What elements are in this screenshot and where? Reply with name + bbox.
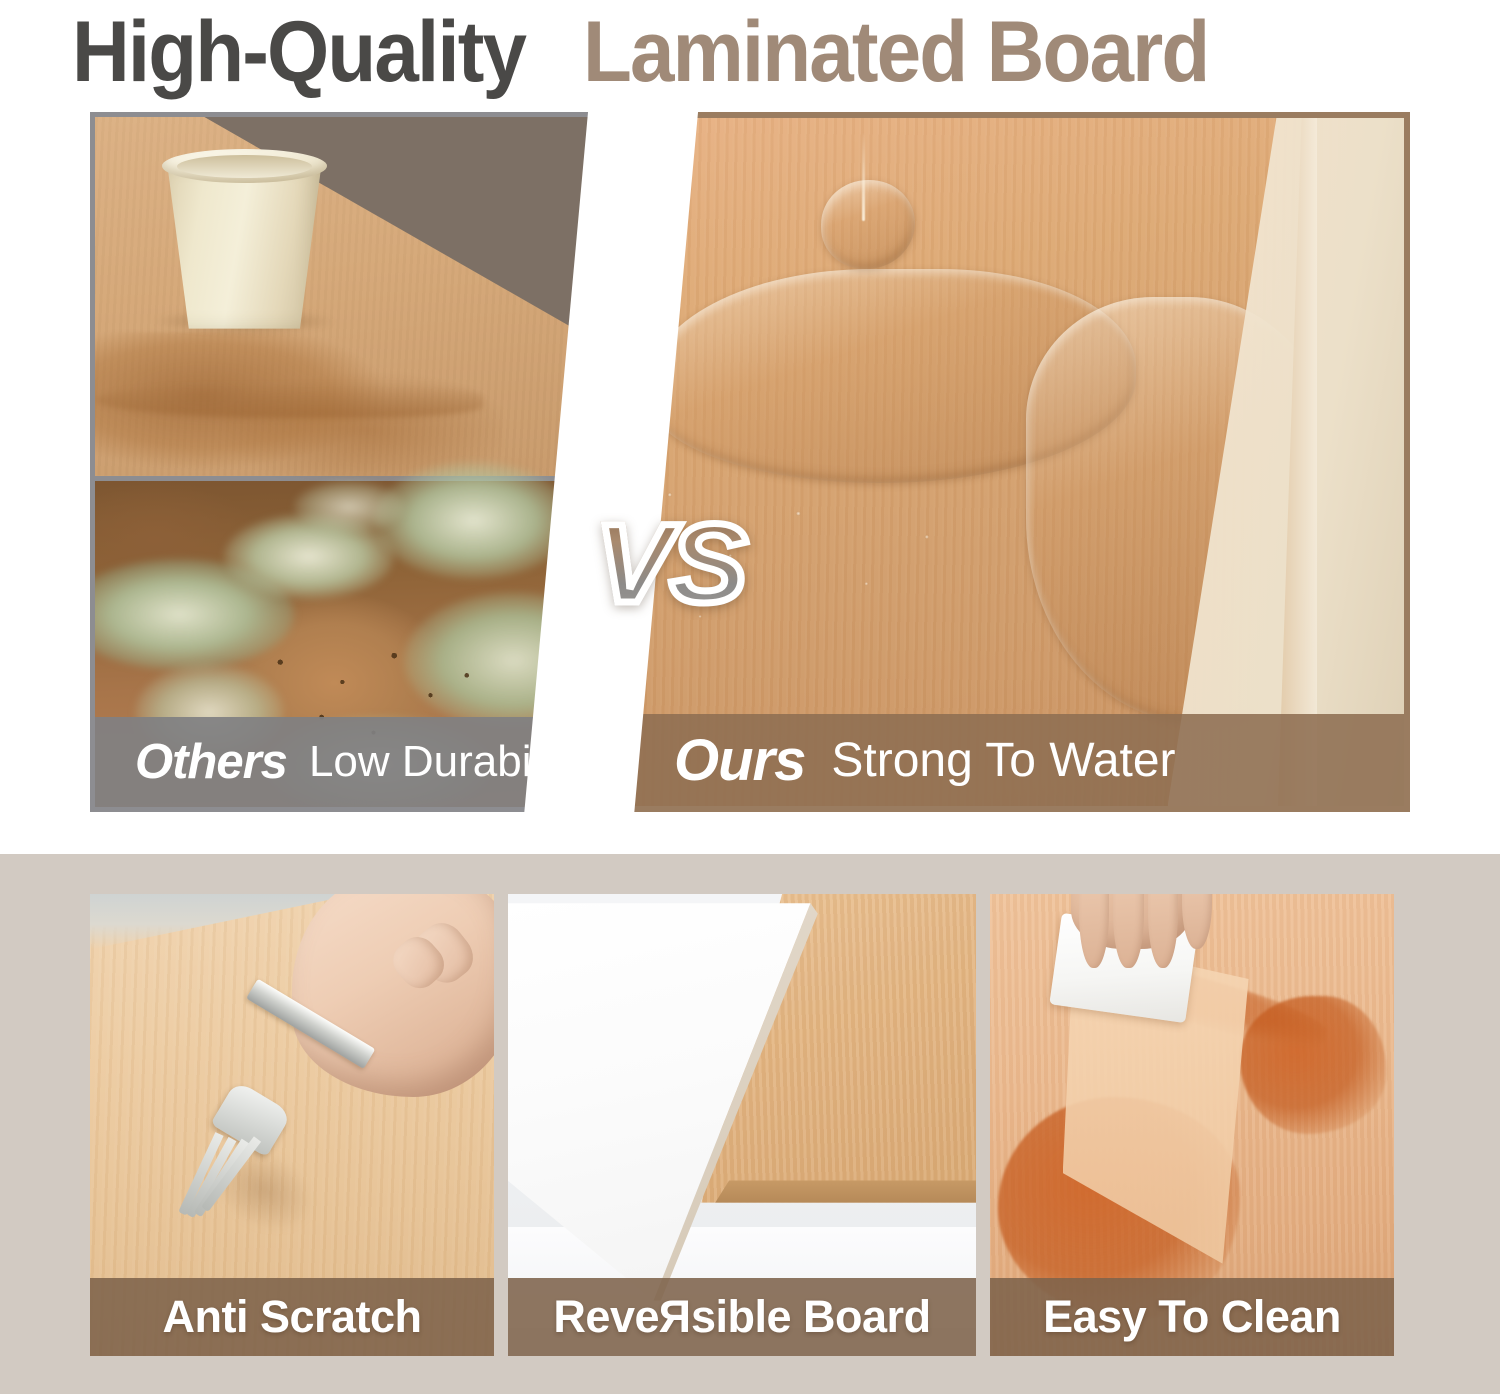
feature-label-bar: Easy To Clean [990,1278,1394,1356]
others-title: Others [135,734,287,790]
feature-label-post: sible Board [691,1291,931,1342]
feature-card-reversible-board: ReveRsible Board [508,894,976,1356]
ours-tagline: Strong To Water [831,733,1175,788]
cup-body [167,164,321,329]
comparison-section: Others Low Durability Ours Strong To Wat… [0,104,1500,826]
water-droplet-stream [862,132,865,221]
feature-label: Anti Scratch [162,1291,421,1343]
page-title: High-Quality Laminated Board [0,0,1500,104]
feature-label-bar: ReveRsible Board [508,1278,976,1356]
features-section: Anti Scratch ReveRsible Board [0,854,1500,1394]
feature-label: ReveRsible Board [553,1291,930,1343]
title-part-1: High-Quality [72,9,525,95]
feature-card-easy-to-clean: Easy To Clean [990,894,1394,1356]
mold-colony [374,462,573,579]
paper-cup [162,149,326,328]
ours-panel: Ours Strong To Water [610,112,1410,812]
mirrored-r-glyph: R [659,1291,691,1343]
others-panel: Others Low Durability [90,112,598,812]
mold-colony [294,481,404,533]
feature-label-pre: Reve [553,1291,659,1342]
feature-label: Easy To Clean [1043,1291,1341,1343]
vs-badge: VS [595,508,744,620]
ours-label-bar: Ours Strong To Water [616,714,1404,806]
feature-card-anti-scratch: Anti Scratch [90,894,494,1356]
others-label-bar: Others Low Durability [95,717,593,807]
others-spill-photo [95,117,593,476]
feature-label-bar: Anti Scratch [90,1278,494,1356]
ours-title: Ours [674,727,805,794]
hand [292,894,494,1097]
features-grid: Anti Scratch ReveRsible Board [90,894,1410,1356]
title-part-2: Laminated Board [583,9,1208,95]
